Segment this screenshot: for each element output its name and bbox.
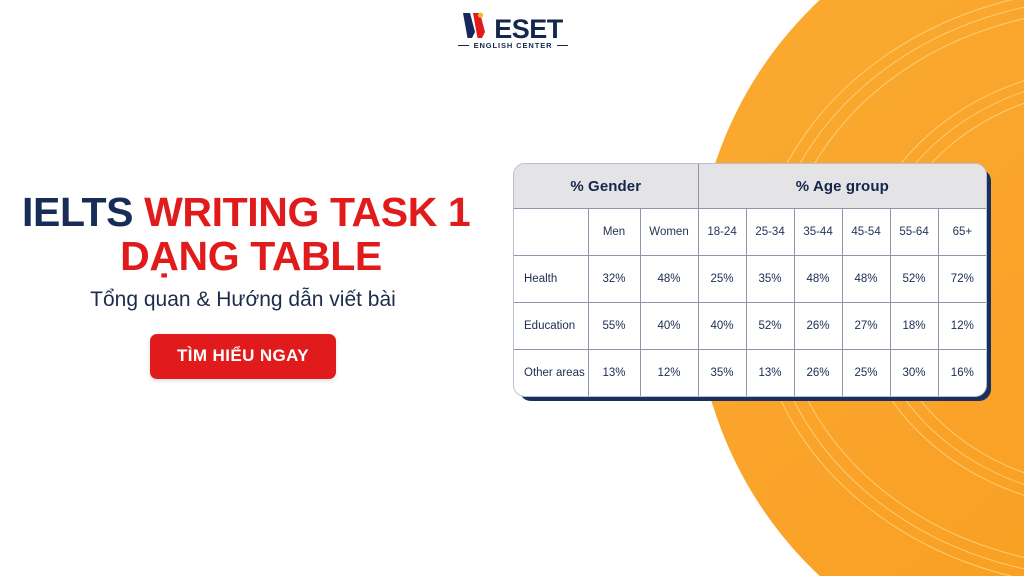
row-label-health: Health: [514, 256, 588, 303]
statistics-table: % Gender % Age group Men Women 18-24 25-…: [514, 164, 986, 396]
cell-education-35-44: 26%: [794, 303, 842, 350]
poster-canvas: ESET ENGLISH CENTER IELTS WRITING TASK 1…: [0, 0, 1024, 576]
learn-more-button[interactable]: TÌM HIỂU NGAY: [150, 334, 336, 379]
table-row: Health 32% 48% 25% 35% 48% 48% 52% 72%: [514, 256, 986, 303]
column-header-18-24: 18-24: [698, 209, 746, 256]
table-row: Other areas 13% 12% 35% 13% 26% 25% 30% …: [514, 350, 986, 397]
logo-name-text: ESET: [494, 15, 563, 43]
column-header-blank: [514, 209, 588, 256]
cell-health-25-34: 35%: [746, 256, 794, 303]
cell-health-45-54: 48%: [842, 256, 890, 303]
cell-other-women: 12%: [640, 350, 698, 397]
cell-education-65-plus: 12%: [938, 303, 986, 350]
hero-content: IELTS WRITING TASK 1 DẠNG TABLE Tổng qua…: [0, 190, 508, 379]
group-header-gender: % Gender: [514, 164, 698, 209]
logo-dash-left-icon: [458, 45, 469, 46]
cell-education-men: 55%: [588, 303, 640, 350]
column-header-45-54: 45-54: [842, 209, 890, 256]
column-header-55-64: 55-64: [890, 209, 938, 256]
cell-health-35-44: 48%: [794, 256, 842, 303]
group-header-age: % Age group: [698, 164, 986, 209]
cell-health-65-plus: 72%: [938, 256, 986, 303]
column-header-65-plus: 65+: [938, 209, 986, 256]
cell-health-men: 32%: [588, 256, 640, 303]
headline-ielts-word: IELTS: [22, 189, 144, 235]
cell-other-35-44: 26%: [794, 350, 842, 397]
cta-container: TÌM HIỂU NGAY: [0, 334, 508, 379]
table-head: % Gender % Age group Men Women 18-24 25-…: [514, 164, 986, 256]
brand-logo[interactable]: ESET ENGLISH CENTER: [447, 12, 579, 56]
hero-subtitle: Tổng quan & Hướng dẫn viết bài: [0, 288, 508, 312]
cell-education-55-64: 18%: [890, 303, 938, 350]
row-label-education: Education: [514, 303, 588, 350]
table-row: Education 55% 40% 40% 52% 26% 27% 18% 12…: [514, 303, 986, 350]
column-header-men: Men: [588, 209, 640, 256]
table-body: Health 32% 48% 25% 35% 48% 48% 52% 72% E…: [514, 256, 986, 397]
cell-other-25-34: 13%: [746, 350, 794, 397]
logo-tagline-text: ENGLISH CENTER: [474, 41, 553, 50]
page-title: IELTS WRITING TASK 1 DẠNG TABLE: [0, 190, 508, 278]
cell-education-18-24: 40%: [698, 303, 746, 350]
cell-other-55-64: 30%: [890, 350, 938, 397]
column-header-35-44: 35-44: [794, 209, 842, 256]
column-header-women: Women: [640, 209, 698, 256]
headline-line-2: DẠNG TABLE: [22, 234, 498, 278]
row-label-other-areas: Other areas: [514, 350, 588, 397]
headline-line-1: IELTS WRITING TASK 1: [22, 190, 498, 234]
column-header-25-34: 25-34: [746, 209, 794, 256]
cell-other-65-plus: 16%: [938, 350, 986, 397]
logo-dash-right-icon: [557, 45, 568, 46]
cell-other-18-24: 35%: [698, 350, 746, 397]
cell-education-45-54: 27%: [842, 303, 890, 350]
logo-wordmark: ESET: [447, 12, 579, 40]
cell-education-women: 40%: [640, 303, 698, 350]
cell-other-45-54: 25%: [842, 350, 890, 397]
cell-health-18-24: 25%: [698, 256, 746, 303]
data-table-card: % Gender % Age group Men Women 18-24 25-…: [513, 163, 987, 397]
headline-task-words: WRITING TASK 1: [144, 189, 470, 235]
cell-health-55-64: 52%: [890, 256, 938, 303]
cell-other-men: 13%: [588, 350, 640, 397]
logo-w-mark-icon: [463, 12, 493, 38]
table-column-header-row: Men Women 18-24 25-34 35-44 45-54 55-64 …: [514, 209, 986, 256]
cell-education-25-34: 52%: [746, 303, 794, 350]
cell-health-women: 48%: [640, 256, 698, 303]
table-group-header-row: % Gender % Age group: [514, 164, 986, 209]
